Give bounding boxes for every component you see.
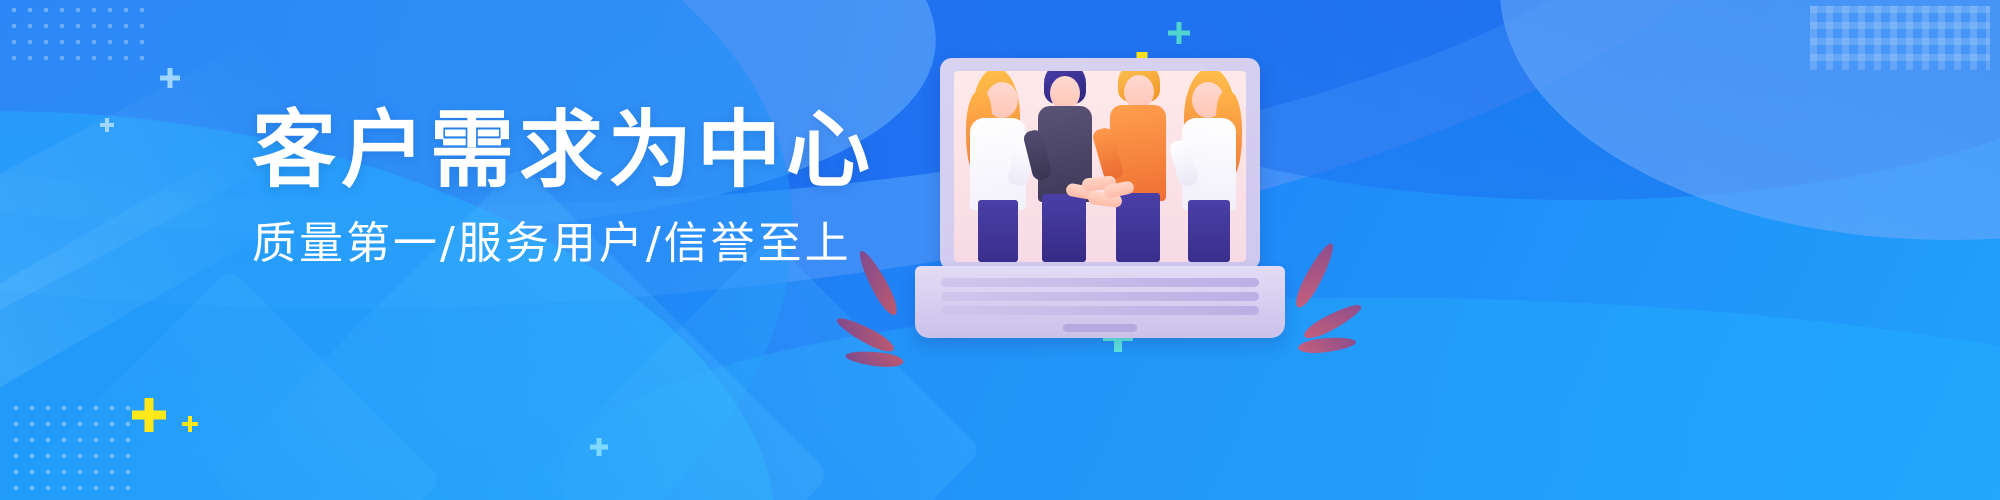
plus-icon-cyan-small (1168, 22, 1190, 44)
dot-grid-top-left (6, 2, 156, 72)
banner-subheadline: 质量第一/服务用户/信誉至上 (252, 222, 875, 266)
plus-icon-yellow-bottom (132, 398, 166, 432)
person-2-head (1050, 76, 1080, 110)
person-2 (1028, 71, 1102, 262)
joined-hands (1064, 175, 1136, 215)
laptop-touchpad (1063, 324, 1137, 332)
person-1 (960, 71, 1034, 262)
leaf-cluster-right (1215, 235, 1335, 345)
person-3 (1100, 71, 1176, 262)
plus-icon-yellow-tiny (182, 416, 198, 432)
dot-grid-bottom-left (8, 400, 138, 495)
plus-icon-light-bottom (590, 438, 608, 456)
plus-icon-light-left (160, 68, 180, 88)
plus-icon-light-left-small (100, 118, 114, 132)
leaf-cluster-left (880, 235, 1000, 345)
leaf-icon-4 (1291, 240, 1339, 311)
person-3-head (1124, 75, 1154, 109)
promo-banner: 客户需求为中心 质量第一/服务用户/信誉至上 (0, 0, 2000, 500)
banner-headline: 客户需求为中心 (252, 108, 875, 192)
square-grid-top-right (1810, 6, 1990, 70)
laptop-screen (954, 71, 1246, 262)
banner-copy: 客户需求为中心 质量第一/服务用户/信誉至上 (252, 108, 875, 266)
person-4 (1168, 71, 1246, 262)
